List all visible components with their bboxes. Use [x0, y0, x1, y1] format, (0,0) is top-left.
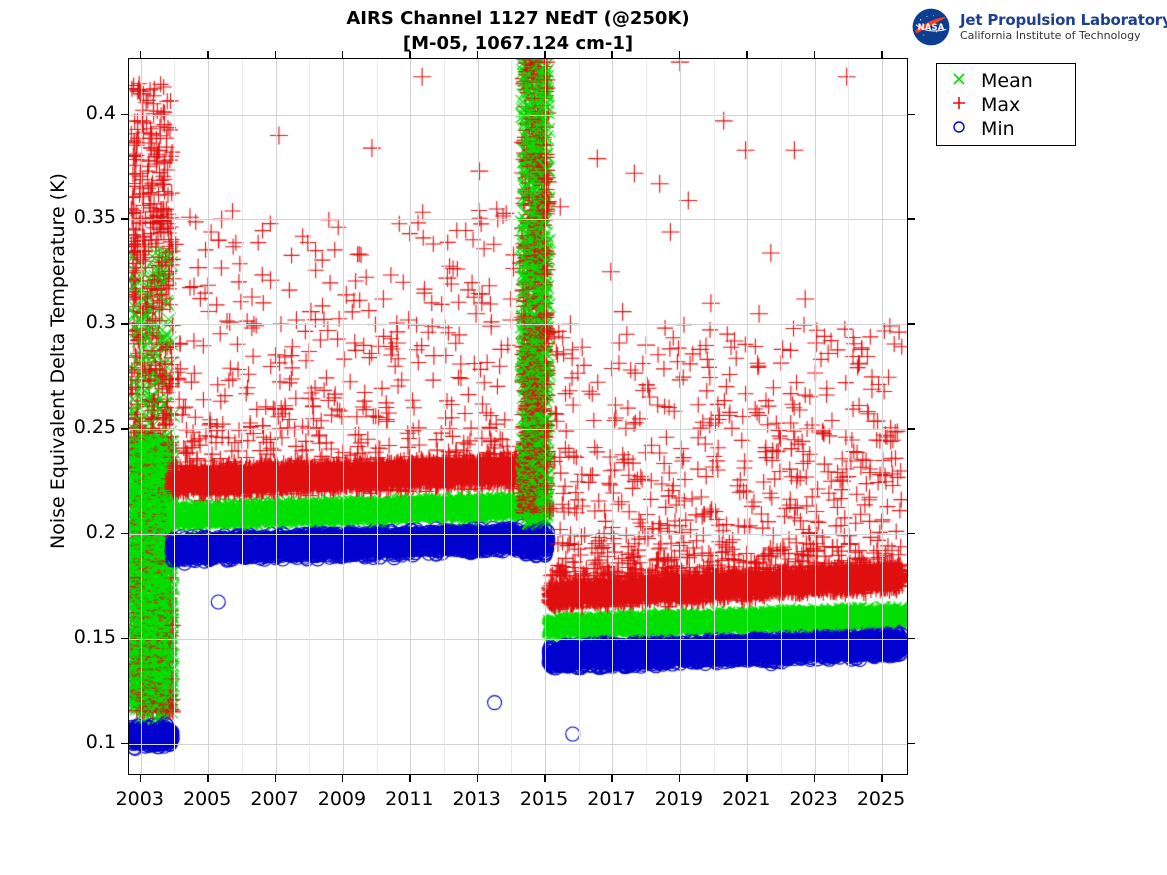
chart-title: AIRS Channel 1127 NEdT (@250K) [M-05, 10…: [128, 6, 908, 56]
x-axis-tick-top: [881, 51, 883, 58]
y-axis-tick-right: [908, 638, 915, 640]
plus-marker-icon: [937, 95, 981, 115]
x-axis-tick-top: [814, 51, 816, 58]
x-axis-tick: [140, 775, 142, 782]
x-axis-tick-top: [611, 51, 613, 58]
gridline-vertical: [747, 59, 748, 774]
x-axis-tick: [409, 775, 411, 782]
x-axis-tick-top: [544, 51, 546, 58]
x-axis-tick: [275, 775, 277, 782]
x-axis-tick: [207, 775, 209, 782]
x-axis-tick-top: [207, 51, 209, 58]
gridline-horizontal: [129, 534, 907, 535]
nasa-jpl-logo: NASA Jet Propulsion Laboratory Californi…: [908, 5, 1160, 49]
gridline-vertical: [815, 59, 816, 774]
y-axis-tick-label: 0.3: [46, 311, 116, 333]
gridline-vertical: [208, 59, 209, 774]
y-axis-tick: [121, 428, 128, 430]
nasa-meatball-icon: NASA: [908, 7, 954, 47]
gridline-vertical: [141, 59, 142, 774]
y-axis-tick-right: [908, 114, 915, 116]
plot-area: [128, 58, 908, 775]
circle-marker-icon: [937, 119, 981, 139]
y-axis-tick-right: [908, 533, 915, 535]
gridline-vertical: [680, 59, 681, 774]
x-axis-tick-top: [140, 51, 142, 58]
gridline-vertical: [478, 59, 479, 774]
y-axis-tick-label: 0.35: [46, 206, 116, 228]
y-axis-tick-label: 0.15: [46, 626, 116, 648]
y-axis-tick: [121, 638, 128, 640]
x-marker-icon: [937, 71, 981, 91]
gridline-horizontal: [129, 744, 907, 745]
legend-item-min[interactable]: Min: [937, 117, 1075, 141]
x-axis-tick: [814, 775, 816, 782]
y-axis-tick-right: [908, 428, 915, 430]
y-axis-tick-right: [908, 218, 915, 220]
legend-label-min: Min: [981, 120, 1015, 139]
gridline-vertical-minor: [646, 59, 647, 774]
gridline-vertical-minor: [309, 59, 310, 774]
gridline-vertical: [410, 59, 411, 774]
x-axis-tick-label: 2025: [836, 788, 926, 810]
jpl-wordmark: Jet Propulsion Laboratory California Ins…: [960, 12, 1167, 42]
gridline-vertical-minor: [848, 59, 849, 774]
gridline-vertical-minor: [511, 59, 512, 774]
gridline-vertical-minor: [242, 59, 243, 774]
legend-label-mean: Mean: [981, 72, 1033, 91]
x-axis-tick: [342, 775, 344, 782]
y-axis-tick: [121, 323, 128, 325]
gridline-vertical: [276, 59, 277, 774]
x-axis-tick-top: [409, 51, 411, 58]
gridline-horizontal: [129, 639, 907, 640]
gridline-vertical-minor: [579, 59, 580, 774]
y-axis-tick: [121, 533, 128, 535]
x-axis-tick-top: [477, 51, 479, 58]
y-axis-tick-right: [908, 323, 915, 325]
gridline-vertical: [882, 59, 883, 774]
gridline-horizontal: [129, 429, 907, 430]
x-axis-tick-top: [746, 51, 748, 58]
y-axis-tick-right: [908, 743, 915, 745]
x-axis-tick: [746, 775, 748, 782]
y-axis-tick-label: 0.2: [46, 521, 116, 543]
gridline-horizontal: [129, 324, 907, 325]
jpl-name: Jet Propulsion Laboratory: [960, 12, 1167, 29]
x-axis-tick-top: [342, 51, 344, 58]
gridline-vertical-minor: [174, 59, 175, 774]
y-axis-tick: [121, 743, 128, 745]
x-axis-tick: [611, 775, 613, 782]
chart-legend: Mean Max Min: [936, 63, 1076, 146]
legend-item-max[interactable]: Max: [937, 93, 1075, 117]
y-axis-tick-label: 0.4: [46, 102, 116, 124]
x-axis-tick: [679, 775, 681, 782]
legend-label-max: Max: [981, 96, 1020, 115]
y-axis-tick-label: 0.25: [46, 416, 116, 438]
x-axis-tick: [881, 775, 883, 782]
gridline-vertical: [343, 59, 344, 774]
svg-text:NASA: NASA: [918, 22, 945, 32]
y-axis-tick-label: 0.1: [46, 731, 116, 753]
x-axis-tick: [544, 775, 546, 782]
x-axis-tick-top: [679, 51, 681, 58]
y-axis-tick: [121, 114, 128, 116]
legend-item-mean[interactable]: Mean: [937, 69, 1075, 93]
chart-title-line1: AIRS Channel 1127 NEdT (@250K): [128, 6, 908, 31]
chart-title-line2: [M-05, 1067.124 cm-1]: [128, 31, 908, 56]
gridline-vertical: [545, 59, 546, 774]
gridline-horizontal: [129, 219, 907, 220]
jpl-institution: California Institute of Technology: [960, 29, 1167, 42]
gridline-vertical: [612, 59, 613, 774]
gridline-vertical-minor: [444, 59, 445, 774]
gridline-vertical-minor: [377, 59, 378, 774]
gridline-vertical-minor: [714, 59, 715, 774]
gridline-vertical-minor: [781, 59, 782, 774]
scatter-plot-canvas: [129, 59, 908, 775]
gridline-horizontal: [129, 115, 907, 116]
x-axis-tick: [477, 775, 479, 782]
x-axis-tick-top: [275, 51, 277, 58]
y-axis-tick: [121, 218, 128, 220]
y-axis-title: Noise Equivalent Delta Temperature (K): [47, 41, 69, 681]
